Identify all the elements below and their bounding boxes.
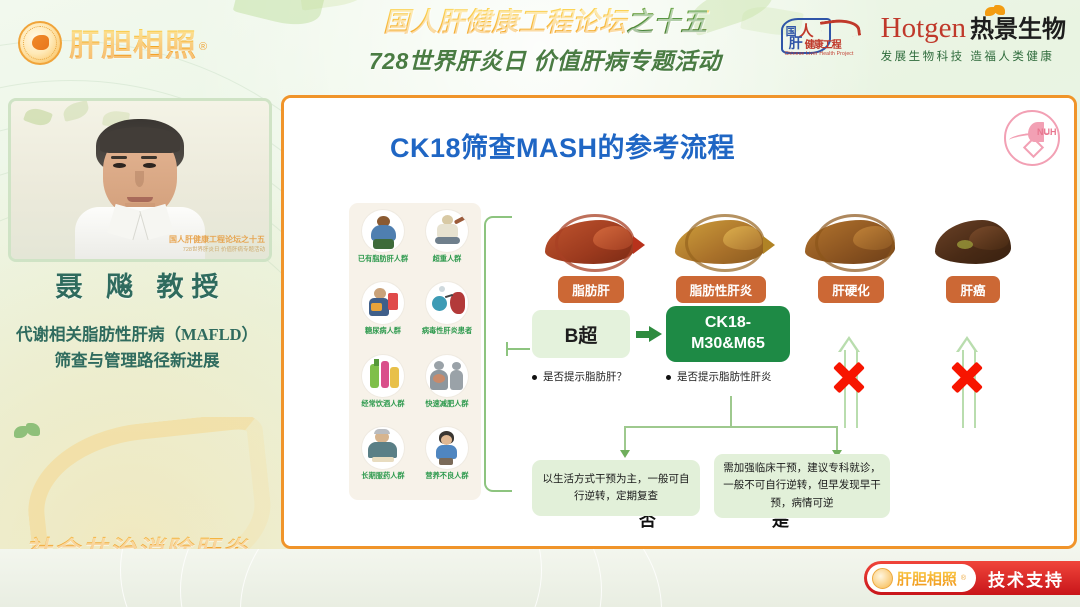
event-title-main: 国人肝健康工程论坛: [383, 7, 626, 37]
presentation-stage: 肝胆相照® 国人肝健康工程论坛之十五 728世界肝炎日 价值肝病专题活动 国 人…: [0, 0, 1080, 607]
butterfly-icon: [14, 423, 40, 443]
hotgen-name-cn: 热景生物: [970, 18, 1066, 42]
blocked-progression-x-icon: [828, 356, 870, 398]
brand-registered-mark: ®: [199, 41, 207, 53]
population-item: 长期服药人群: [351, 424, 415, 496]
liver-stage: 脂肪性肝炎: [662, 210, 780, 303]
slide-panel[interactable]: CK18筛查MASH的参考流程 NUH 已有脂肪肝人群: [281, 95, 1077, 549]
clhp-glyph-gan: 肝: [789, 33, 803, 53]
butterfly-icon: [985, 5, 1005, 21]
liver-stage: 脂肪肝: [532, 210, 650, 303]
brand-name: 肝胆相照: [69, 28, 197, 63]
bullet-dot-icon: [532, 375, 537, 380]
population-label: 经常饮酒人群: [361, 399, 404, 408]
ck18-line2: M30&M65: [691, 334, 765, 355]
risk-population-panel: 已有脂肪肝人群 超重人群: [349, 203, 481, 500]
speaker-topic-line1: 代谢相关脂肪性肝病（MAFLD）: [6, 322, 268, 348]
population-item: 营养不良人群: [415, 424, 479, 496]
slide-title: CK18筛查MASH的参考流程: [390, 126, 735, 165]
liver-cancer-icon: [921, 210, 1025, 272]
page-header: 肝胆相照® 国人肝健康工程论坛之十五 728世界肝炎日 价值肝病专题活动 国 人…: [0, 0, 1080, 92]
liver-brand-mark-icon: [872, 568, 893, 589]
speaker-name: 聂 飚 教授: [0, 265, 274, 304]
page-footer: 肝胆相照® 技术支持: [0, 549, 1080, 607]
blocked-progression-x-icon: [946, 356, 988, 398]
ck18-line1: CK18-: [705, 313, 751, 334]
video-watermark: 国人肝健康工程论坛之十五 728世界肝炎日 价值肝病专题活动: [169, 234, 265, 253]
alcohol-drinker-icon: [362, 355, 404, 397]
event-subtitle: 728世界肝炎日 价值肝病专题活动: [340, 42, 750, 76]
cirrhosis-icon: [799, 210, 903, 272]
speaker-topic-line2: 筛查与管理路径新进展: [6, 348, 268, 374]
liver-stage-label: 脂肪性肝炎: [676, 276, 767, 303]
population-label: 糖尿病人群: [365, 326, 401, 335]
diabetes-person-icon: [362, 282, 404, 324]
video-watermark-line2: 728世界肝炎日 价值肝病专题活动: [169, 245, 265, 253]
hotgen-tagline: 发展生物科技 造福人类健康: [881, 48, 1066, 64]
population-label: 快速减肥人群: [425, 399, 468, 408]
ck18-step-box[interactable]: CK18- M30&M65: [666, 306, 790, 362]
population-item: 糖尿病人群: [351, 279, 415, 351]
population-label: 营养不良人群: [425, 471, 468, 480]
population-item: 快速减肥人群: [415, 352, 479, 424]
event-title-tail: 之十五: [626, 7, 707, 37]
video-watermark-line1: 国人肝健康工程论坛之十五: [169, 234, 265, 245]
viral-hepatitis-icon: [426, 282, 468, 324]
liver-stage: 肝癌: [914, 210, 1032, 303]
population-item: 经常饮酒人群: [351, 352, 415, 424]
hospital-logo-text: NUH: [1037, 127, 1057, 137]
arrow-right-icon: [636, 326, 662, 342]
fatty-liver-icon: [539, 210, 643, 272]
tech-support-label: 技术支持: [976, 561, 1080, 595]
event-title: 国人肝健康工程论坛之十五: [340, 8, 750, 38]
rapid-weight-loss-icon: [426, 355, 468, 397]
population-label: 超重人群: [433, 254, 462, 263]
tech-support-brand: 肝胆相照®: [867, 564, 976, 592]
liver-brand-mark-icon: [18, 21, 62, 65]
liver-stage-label: 肝硬化: [818, 276, 884, 303]
header-logos: 国 人 肝 健康工程 Chinese Liver Health Project …: [777, 14, 1066, 64]
liver-stage: 肝硬化: [792, 210, 910, 303]
population-item: 超重人群: [415, 207, 479, 279]
steatohepatitis-icon: [669, 210, 773, 272]
arrow-down-icon: [620, 450, 630, 458]
malnutrition-icon: [426, 427, 468, 469]
footer-registered-mark: ®: [961, 575, 966, 582]
grouping-brace-connector: [508, 348, 530, 350]
hotgen-name-en: Hotgen: [881, 14, 966, 43]
speaker-topic: 代谢相关脂肪性肝病（MAFLD） 筛查与管理路径新进展: [6, 322, 268, 373]
liver-stage-label: 脂肪肝: [558, 276, 624, 303]
ultrasound-step-box[interactable]: B超: [532, 310, 630, 358]
decision-branch-connector: [584, 376, 844, 454]
population-label: 病毒性肝炎患者: [422, 326, 472, 335]
outcome-yes-box: 需加强临床干预，建议专科就诊，一般不可自行逆转，但早发现早干预，病情可逆: [714, 454, 890, 518]
population-item: 已有脂肪肝人群: [351, 207, 415, 279]
liver-stage-label: 肝癌: [946, 276, 999, 303]
event-title-block: 国人肝健康工程论坛之十五 728世界肝炎日 价值肝病专题活动: [340, 8, 750, 76]
china-liver-health-project-logo: 国 人 肝 健康工程 Chinese Liver Health Project: [777, 14, 869, 64]
outcome-no-box: 以生活方式干预为主，一般可自行逆转，定期复查: [532, 460, 700, 516]
long-term-medication-icon: [362, 427, 404, 469]
brand-logo[interactable]: 肝胆相照®: [18, 20, 207, 65]
population-label: 已有脂肪肝人群: [358, 254, 408, 263]
population-item: 病毒性肝炎患者: [415, 279, 479, 351]
population-label: 长期服药人群: [361, 471, 404, 480]
speaker-video-panel[interactable]: 国人肝健康工程论坛之十五 728世界肝炎日 价值肝病专题活动: [8, 98, 272, 262]
hospital-logo-icon: NUH: [1004, 110, 1060, 166]
clhp-english-name: Chinese Liver Health Project: [785, 51, 854, 57]
overweight-person-icon: [426, 210, 468, 252]
obese-person-icon: [362, 210, 404, 252]
tech-support-badge[interactable]: 肝胆相照® 技术支持: [864, 561, 1080, 595]
hotgen-logo: Hotgen 热景生物 发展生物科技 造福人类健康: [881, 14, 1066, 64]
footer-brand-name: 肝胆相照: [897, 568, 957, 589]
